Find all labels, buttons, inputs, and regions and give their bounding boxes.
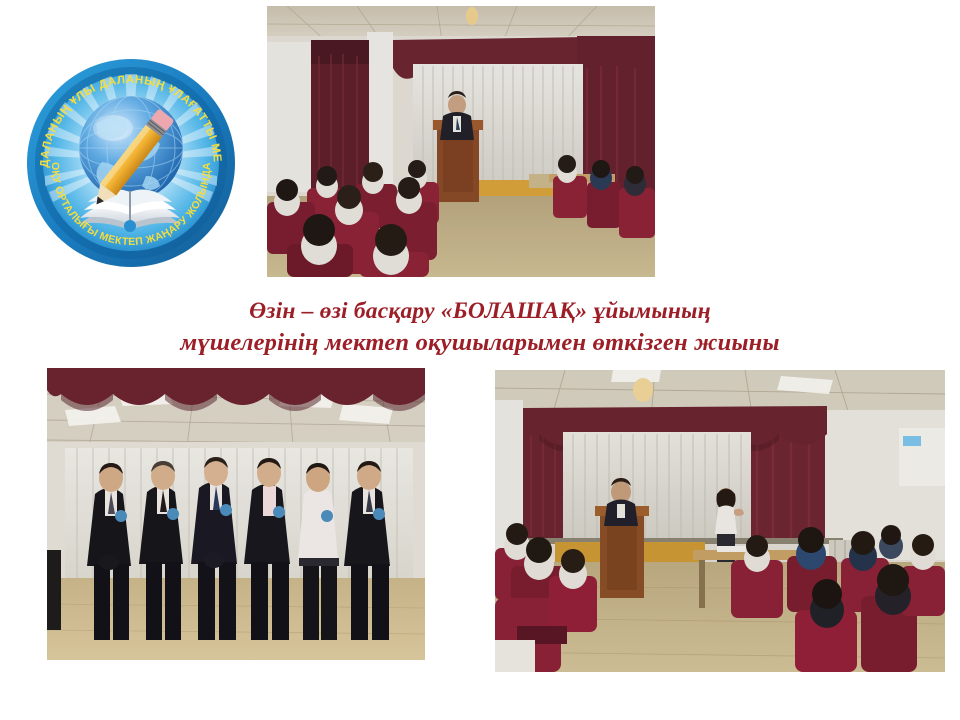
school-emblem-graphic: ҰЛЫ ДАЛАНЫҢ ҰЛЫ ДАЛАНЫҢ ҰЛАҒАТТЫ МЕКТЕБІ… [18,48,244,274]
photo-group-of-six-students-graphic [47,368,425,660]
school-emblem-logo: ҰЛЫ ДАЛАНЫҢ ҰЛЫ ДАЛАНЫҢ ҰЛАҒАТТЫ МЕКТЕБІ… [18,48,244,274]
photo-assembly-hall-speaker [267,6,655,277]
slide-title-line-2: мүшелерінің мектеп оқушыларымен өткізген… [100,327,860,358]
slide-title: Өзін – өзі басқару «БОЛАШАҚ» ұйымының мү… [100,296,860,358]
photo-group-of-six-students [47,368,425,660]
photo-assembly-hall-speaker-graphic [267,6,655,277]
slide-title-line-1: Өзін – өзі басқару «БОЛАШАҚ» ұйымының [100,296,860,327]
photo-meeting-with-pupils-graphic [495,370,945,672]
slide-canvas: ҰЛЫ ДАЛАНЫҢ ҰЛЫ ДАЛАНЫҢ ҰЛАҒАТТЫ МЕКТЕБІ… [0,0,960,720]
photo-meeting-with-pupils [495,370,945,672]
